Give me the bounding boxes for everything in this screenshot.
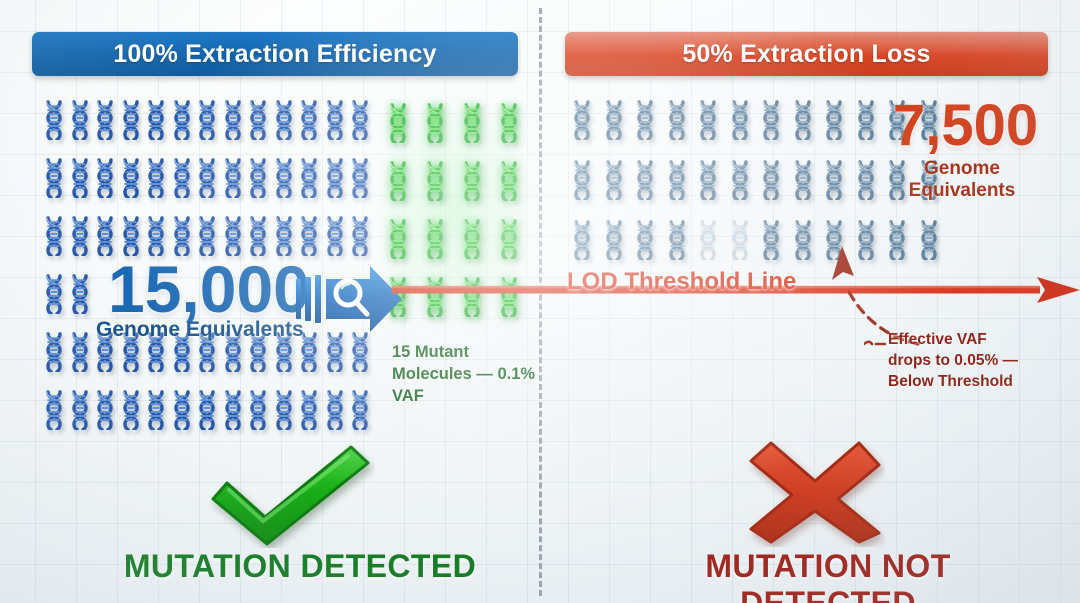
dna-helix-icon: [144, 216, 168, 256]
dna-helix-icon: [497, 161, 521, 201]
dna-helix-icon: [386, 219, 410, 259]
dna-helix-icon: [497, 103, 521, 143]
dna-helix-icon: [323, 390, 347, 430]
red-cross-icon: [745, 437, 885, 547]
dna-helix-icon: [68, 390, 92, 430]
effective-vaf-annotation-line-2: drops to 0.05% —: [888, 351, 1038, 372]
dna-helix-icon: [42, 332, 66, 372]
mutant-molecules-caption: 15 Mutant Molecules — 0.1% VAF: [392, 342, 542, 407]
dna-helix-faded-icon: [696, 220, 720, 260]
dna-helix-icon: [696, 100, 720, 140]
dna-helix-icon: [68, 216, 92, 256]
dna-helix-icon: [633, 220, 657, 260]
dna-helix-icon: [93, 158, 117, 198]
effective-vaf-annotation-line-1: Effective VAF: [888, 330, 1038, 351]
dna-helix-icon: [728, 100, 752, 140]
dna-helix-icon: [791, 160, 815, 200]
dna-helix-icon: [93, 390, 117, 430]
dna-helix-icon: [323, 332, 347, 372]
dna-helix-icon: [633, 160, 657, 200]
dna-helix-icon: [348, 332, 372, 372]
dna-helix-icon: [170, 158, 194, 198]
dna-helix-icon: [460, 161, 484, 201]
dna-helix-icon: [144, 100, 168, 140]
dna-helix-icon: [221, 216, 245, 256]
dna-helix-icon: [221, 158, 245, 198]
dna-helix-icon: [42, 274, 66, 314]
dna-helix-icon: [665, 160, 689, 200]
dna-helix-icon: [246, 216, 270, 256]
dna-helix-icon: [570, 220, 594, 260]
dna-helix-icon: [460, 219, 484, 259]
dna-helix-icon: [297, 100, 321, 140]
dna-helix-icon: [42, 216, 66, 256]
dna-helix-icon: [221, 100, 245, 140]
dna-helix-icon: [195, 158, 219, 198]
effective-vaf-annotation-line-3: Below Threshold: [888, 372, 1038, 393]
dna-helix-icon: [822, 100, 846, 140]
dna-helix-icon: [348, 158, 372, 198]
dna-helix-icon: [119, 216, 143, 256]
dna-helix-icon: [570, 100, 594, 140]
banner-right-title: 50% Extraction Loss: [565, 32, 1048, 76]
dna-helix-icon: [246, 100, 270, 140]
dna-helix-icon: [119, 100, 143, 140]
dna-helix-icon: [272, 158, 296, 198]
dna-helix-icon: [423, 103, 447, 143]
dna-helix-icon: [602, 220, 626, 260]
dna-helix-icon: [759, 160, 783, 200]
verdict-label-right: MUTATION NOT DETECTED: [628, 548, 1028, 603]
genome-equivalents-label-left: Genome Equivalents: [96, 318, 304, 342]
dna-helix-icon: [42, 390, 66, 430]
dna-helix-icon: [423, 219, 447, 259]
dna-helix-icon: [822, 160, 846, 200]
dna-helix-icon: [42, 100, 66, 140]
effective-vaf-annotation: Effective VAFdrops to 0.05% —Below Thres…: [888, 330, 1038, 393]
genome-equivalents-count-left: 15,000: [108, 258, 310, 321]
dna-helix-icon: [759, 220, 783, 260]
callout-dash-icon: [864, 335, 886, 343]
dna-helix-icon: [272, 100, 296, 140]
dna-helix-icon: [854, 160, 878, 200]
dna-helix-icon: [348, 216, 372, 256]
dna-helix-icon: [386, 103, 410, 143]
genome-equivalents-label-right-line2: Equivalents: [896, 180, 1028, 202]
dna-helix-icon: [665, 100, 689, 140]
dna-helix-icon: [297, 216, 321, 256]
genome-equivalents-count-right: 7,500: [893, 98, 1038, 153]
dna-helix-icon: [42, 158, 66, 198]
banner-left-title: 100% Extraction Efficiency: [32, 32, 518, 76]
lod-threshold-label: LOD Threshold Line: [567, 268, 796, 296]
dna-helix-icon: [570, 160, 594, 200]
genome-equivalents-label-right: Genome Equivalents: [896, 158, 1028, 203]
magnifier-arrow-icon: [296, 263, 404, 335]
dna-helix-icon: [68, 332, 92, 372]
dna-helix-icon: [272, 390, 296, 430]
dna-helix-icon: [854, 100, 878, 140]
dna-helix-icon: [195, 100, 219, 140]
dna-helix-icon: [497, 219, 521, 259]
dna-helix-icon: [602, 160, 626, 200]
dna-helix-icon: [696, 160, 720, 200]
dna-helix-icon: [119, 390, 143, 430]
dna-helix-icon: [195, 390, 219, 430]
infographic-canvas: 100% Extraction Efficiency 50% Extractio…: [0, 0, 1080, 603]
green-check-icon: [205, 443, 375, 548]
dna-helix-icon: [195, 216, 219, 256]
dna-helix-icon: [348, 390, 372, 430]
dna-helix-faded-icon: [728, 220, 752, 260]
dna-helix-icon: [423, 161, 447, 201]
dna-helix-icon: [323, 216, 347, 256]
dna-helix-icon: [170, 100, 194, 140]
genome-equivalents-label-right-line1: Genome: [896, 158, 1028, 180]
dna-helix-icon: [460, 103, 484, 143]
dna-helix-icon: [119, 158, 143, 198]
dna-helix-icon: [323, 158, 347, 198]
dna-helix-icon: [246, 158, 270, 198]
dna-helix-icon: [602, 100, 626, 140]
dna-helix-icon: [323, 100, 347, 140]
dna-helix-icon: [93, 100, 117, 140]
dna-helix-icon: [633, 100, 657, 140]
dna-helix-icon: [170, 390, 194, 430]
dna-helix-icon: [68, 158, 92, 198]
dna-helix-icon: [297, 158, 321, 198]
dna-helix-icon: [144, 390, 168, 430]
dna-helix-icon: [93, 216, 117, 256]
dna-helix-icon: [221, 390, 245, 430]
verdict-label-left: MUTATION DETECTED: [100, 548, 500, 585]
dna-helix-icon: [728, 160, 752, 200]
dna-helix-icon: [759, 100, 783, 140]
dna-helix-icon: [665, 220, 689, 260]
dna-helix-icon: [297, 390, 321, 430]
dna-helix-icon: [68, 274, 92, 314]
dna-helix-icon: [144, 158, 168, 198]
dna-helix-icon: [272, 216, 296, 256]
dna-helix-icon: [348, 100, 372, 140]
dna-helix-icon: [386, 161, 410, 201]
dna-helix-icon: [791, 100, 815, 140]
dna-helix-icon: [68, 100, 92, 140]
dna-helix-icon: [170, 216, 194, 256]
dna-helix-icon: [246, 390, 270, 430]
